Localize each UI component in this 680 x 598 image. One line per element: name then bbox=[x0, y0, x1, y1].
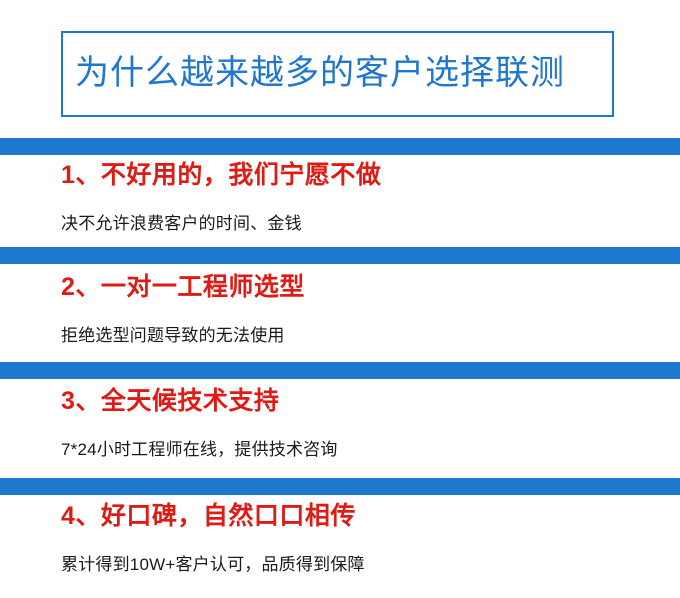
feature-block-3: 3、全天候技术支持 7*24小时工程师在线，提供技术咨询 bbox=[61, 386, 661, 461]
feature-subtitle-2: 拒绝选型问题导致的无法使用 bbox=[61, 303, 661, 347]
feature-heading-1: 1、不好用的，我们宁愿不做 bbox=[61, 160, 661, 191]
divider-bar-4 bbox=[0, 478, 680, 495]
headline-title: 为什么越来越多的客户选择联测 bbox=[75, 55, 565, 92]
feature-subtitle-4: 累计得到10W+客户认可，品质得到保障 bbox=[61, 532, 661, 576]
feature-heading-4: 4、好口碑，自然口口相传 bbox=[61, 501, 661, 532]
feature-block-1: 1、不好用的，我们宁愿不做 决不允许浪费客户的时间、金钱 bbox=[61, 160, 661, 235]
divider-bar-2 bbox=[0, 247, 680, 264]
headline-banner: 为什么越来越多的客户选择联测 bbox=[61, 31, 614, 117]
feature-heading-2: 2、一对一工程师选型 bbox=[61, 272, 661, 303]
divider-bar-1 bbox=[0, 138, 680, 155]
promo-page: 为什么越来越多的客户选择联测 1、不好用的，我们宁愿不做 决不允许浪费客户的时间… bbox=[0, 0, 680, 598]
feature-heading-3: 3、全天候技术支持 bbox=[61, 386, 661, 417]
feature-subtitle-1: 决不允许浪费客户的时间、金钱 bbox=[61, 191, 661, 235]
feature-block-4: 4、好口碑，自然口口相传 累计得到10W+客户认可，品质得到保障 bbox=[61, 501, 661, 576]
feature-subtitle-3: 7*24小时工程师在线，提供技术咨询 bbox=[61, 417, 661, 461]
divider-bar-3 bbox=[0, 362, 680, 379]
feature-block-2: 2、一对一工程师选型 拒绝选型问题导致的无法使用 bbox=[61, 272, 661, 347]
